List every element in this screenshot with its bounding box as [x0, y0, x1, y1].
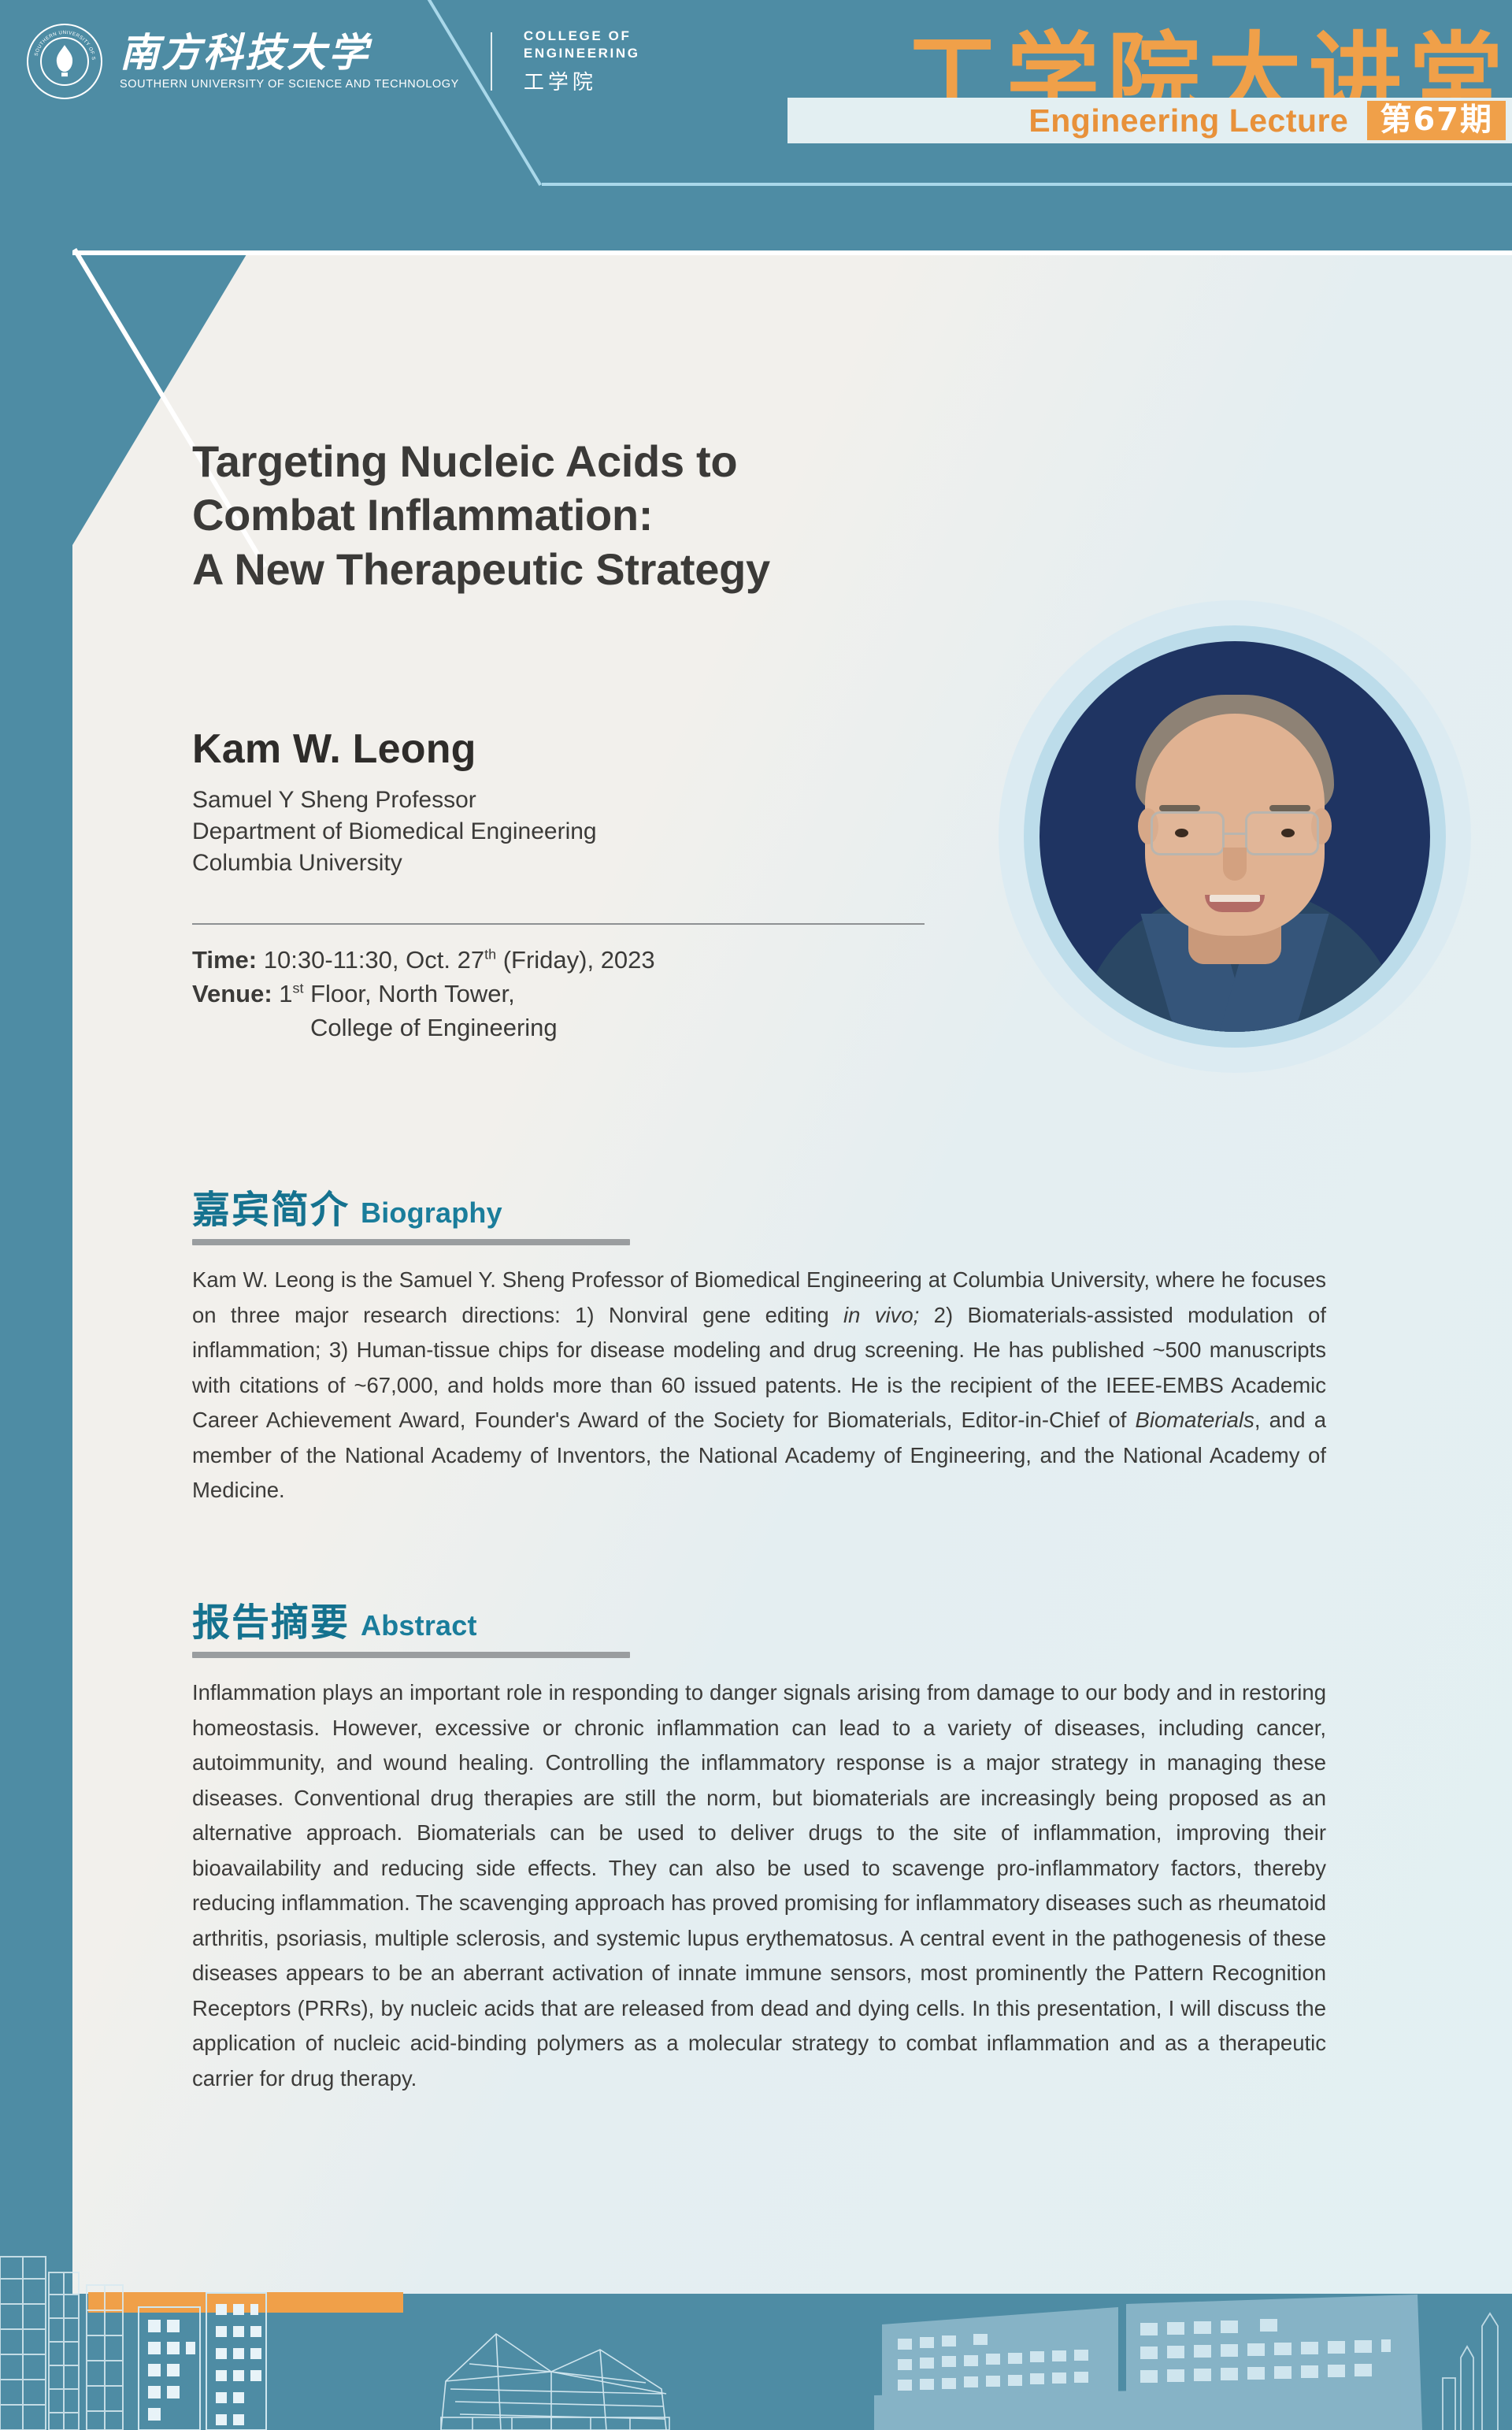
portrait-brow-right [1269, 805, 1310, 811]
biography-text-italic2: Biomaterials [1136, 1408, 1254, 1432]
university-name-cn: 南方科技大学 [120, 33, 459, 72]
portrait-eye-left [1175, 829, 1188, 837]
event-time-label: Time: [192, 946, 257, 974]
abstract-heading-en: Abstract [361, 1609, 477, 1642]
seal-ring-text-icon: SOUTHERN UNIVERSITY OF SCIENCE AND [28, 25, 101, 98]
decor-guide-line-top [542, 183, 1512, 186]
abstract-heading-rule [192, 1652, 630, 1658]
avatar [1039, 641, 1430, 1032]
event-venue-row: Venue: 1st Floor, North Tower, [192, 978, 995, 1011]
speaker-portrait-frame [999, 600, 1471, 1073]
biography-text: Kam W. Leong is the Samuel Y. Sheng Prof… [192, 1263, 1326, 1508]
event-venue-label: Venue: [192, 980, 272, 1007]
portrait-nose [1223, 848, 1247, 881]
event-details: Time: 10:30-11:30, Oct. 27th (Friday), 2… [192, 944, 995, 1044]
speaker-divider [192, 923, 925, 925]
university-logo: SOUTHERN UNIVERSITY OF SCIENCE AND 南方科技大… [27, 24, 640, 99]
lecture-title: Targeting Nucleic Acids to Combat Inflam… [192, 435, 980, 596]
biography-heading-cn: 嘉宾简介 [192, 1191, 350, 1229]
biography-section: 嘉宾简介 Biography Kam W. Leong is the Samue… [192, 1191, 1326, 1508]
abstract-heading-cn: 报告摘要 [192, 1604, 350, 1642]
portrait-brow-left [1159, 805, 1200, 811]
title-line-1: Targeting Nucleic Acids to [192, 435, 980, 488]
portrait-ring [1024, 625, 1446, 1048]
speaker-name: Kam W. Leong [192, 725, 980, 774]
banner-subtitle-bar: Engineering Lecture 第67期 [787, 98, 1512, 143]
portrait-teeth [1210, 895, 1260, 902]
college-name-en-line2: ENGINEERING [524, 45, 640, 61]
biography-text-italic1: in vivo; [843, 1303, 919, 1327]
speaker-info: Kam W. Leong Samuel Y Sheng Professor De… [192, 725, 980, 879]
campus-skyline-illustration [0, 2232, 1512, 2430]
banner-issue-badge: 第67期 [1367, 101, 1506, 140]
biography-heading-rule [192, 1239, 630, 1245]
event-venue-ordinal: st [293, 980, 304, 996]
lecture-poster: SOUTHERN UNIVERSITY OF SCIENCE AND 南方科技大… [0, 0, 1512, 2430]
event-time-ordinal: th [484, 947, 496, 963]
portrait-mouth [1205, 895, 1265, 912]
abstract-text: Inflammation plays an important role in … [192, 1675, 1326, 2097]
event-time-value-a: 10:30-11:30, Oct. 27 [257, 946, 484, 974]
title-line-3: A New Therapeutic Strategy [192, 543, 980, 596]
event-venue-row-2: College of Engineering [192, 1011, 995, 1045]
college-name-cn: 工学院 [524, 66, 640, 95]
college-name-en-line1: COLLEGE OF [524, 28, 640, 44]
glasses-bridge [1225, 833, 1245, 835]
university-seal-icon: SOUTHERN UNIVERSITY OF SCIENCE AND [27, 24, 102, 99]
logo-divider [491, 32, 492, 91]
event-time-value-b: (Friday), 2023 [496, 946, 655, 974]
biography-heading: 嘉宾简介 Biography [192, 1191, 1326, 1230]
abstract-heading: 报告摘要 Abstract [192, 1604, 1326, 1642]
speaker-affiliation-1: Samuel Y Sheng Professor [192, 785, 980, 816]
title-line-2: Combat Inflammation: [192, 488, 980, 542]
speaker-affiliation-2: Department of Biomedical Engineering [192, 816, 980, 848]
banner-lecture-label: Engineering Lecture [1028, 102, 1348, 139]
event-venue-value-b: Floor, North Tower, [304, 980, 515, 1007]
university-name-en: SOUTHERN UNIVERSITY OF SCIENCE AND TECHN… [120, 78, 459, 91]
abstract-section: 报告摘要 Abstract Inflammation plays an impo… [192, 1604, 1326, 2097]
event-time-row: Time: 10:30-11:30, Oct. 27th (Friday), 2… [192, 944, 995, 978]
event-venue-value-a: 1 [272, 980, 293, 1007]
portrait-eye-right [1281, 829, 1295, 837]
card-top-edge [72, 250, 1512, 255]
speaker-affiliation-3: Columbia University [192, 848, 980, 879]
biography-heading-en: Biography [361, 1196, 502, 1230]
svg-text:SOUTHERN UNIVERSITY OF SCIENCE: SOUTHERN UNIVERSITY OF SCIENCE AND [28, 25, 96, 61]
